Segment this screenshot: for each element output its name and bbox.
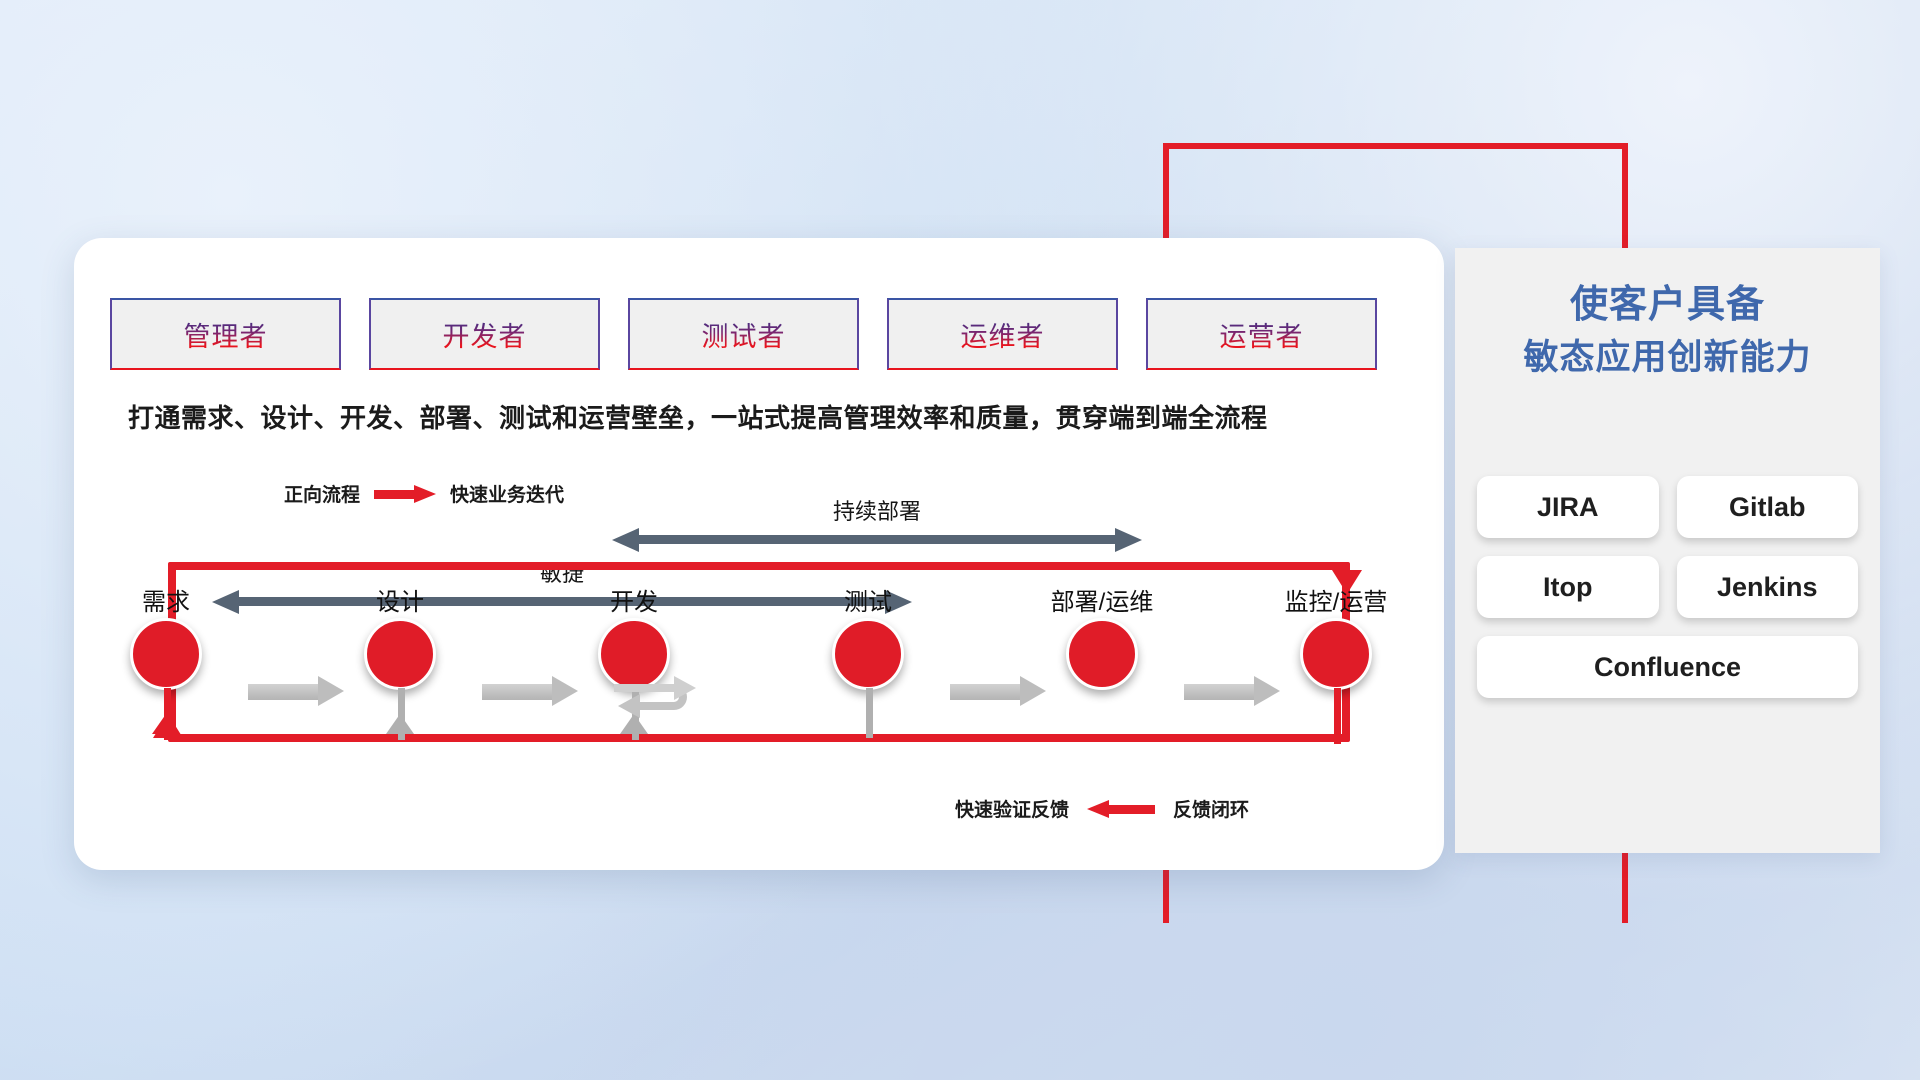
span-label: 持续部署 — [612, 494, 1142, 526]
legend-feedback-right-label: 反馈闭环 — [1173, 795, 1249, 822]
connector-arrow-4 — [1184, 676, 1280, 706]
legend-feedback-left-label: 快速验证反馈 — [955, 795, 1069, 822]
panel-title-line1: 使客户具备 — [1455, 278, 1880, 333]
pipeline-node-label: 开发 — [564, 582, 704, 617]
headline-text: 打通需求、设计、开发、部署、测试和运营壁垒，一站式提高管理效率和质量，贯穿端到端… — [128, 398, 1268, 435]
span-bar — [638, 535, 1116, 544]
legend-forward-flow: 正向流程 快速业务迭代 — [284, 480, 564, 507]
role-chip-ops[interactable]: 运维者 — [887, 298, 1118, 370]
pipeline: 需求 设计 开发 — [0, 618, 1500, 778]
arrow-left-icon — [1087, 800, 1155, 818]
role-chip-tester[interactable]: 测试者 — [628, 298, 859, 370]
role-label: 开发者 — [443, 315, 527, 354]
pipeline-node-dot — [1300, 618, 1372, 690]
legend-forward-right-label: 快速业务迭代 — [450, 480, 564, 507]
pipeline-node-dot — [832, 618, 904, 690]
panel-title: 使客户具备 敏态应用创新能力 — [1455, 278, 1880, 384]
pipeline-node-testing[interactable]: 测试 — [828, 618, 908, 690]
pipeline-node-label: 测试 — [798, 582, 938, 617]
tool-chip-label: Itop — [1543, 572, 1592, 603]
pipeline-node-dot — [1066, 618, 1138, 690]
pipeline-node-dot — [130, 618, 202, 690]
role-label: 运营者 — [1220, 315, 1304, 354]
tool-chip-label: JIRA — [1537, 492, 1599, 523]
node-stem — [866, 688, 873, 738]
role-chip-operations[interactable]: 运营者 — [1146, 298, 1377, 370]
pipeline-node-requirement[interactable]: 需求 — [126, 618, 206, 690]
span-arrow-continuous-deployment: 持续部署 — [612, 528, 1142, 551]
red-bracket-foot — [1163, 917, 1628, 923]
pipeline-node-deploy-ops[interactable]: 部署/运维 — [1062, 618, 1142, 690]
tool-chip-list: JIRA Gitlab Itop Jenkins Confluence — [1477, 476, 1858, 698]
tool-chip-label: Jenkins — [1717, 572, 1818, 603]
arrow-head-left-icon — [612, 528, 639, 552]
tool-chip-jira[interactable]: JIRA — [1477, 476, 1659, 538]
node-stem-arrow-icon — [386, 714, 414, 734]
pipeline-node-monitor-operations[interactable]: 监控/运营 — [1296, 618, 1376, 690]
role-label: 运维者 — [961, 315, 1045, 354]
node-stem — [1334, 688, 1341, 744]
tools-panel: 使客户具备 敏态应用创新能力 JIRA Gitlab Itop Jenkins … — [1455, 248, 1880, 853]
tool-chip-label: Confluence — [1594, 652, 1741, 683]
role-label: 管理者 — [184, 315, 268, 354]
connector-arrow-3 — [950, 676, 1046, 706]
tool-chip-label: Gitlab — [1729, 492, 1806, 523]
tool-chip-confluence[interactable]: Confluence — [1477, 636, 1858, 698]
slide-canvas: 管理者 开发者 测试者 运维者 运营者 打通需求、设计、开发、部署、测试和运营壁… — [0, 0, 1920, 1080]
role-chip-developer[interactable]: 开发者 — [369, 298, 600, 370]
tool-chip-itop[interactable]: Itop — [1477, 556, 1659, 618]
loop-back-arrow-icon — [612, 668, 722, 728]
connector-arrow-1 — [248, 676, 344, 706]
pipeline-node-label: 监控/运营 — [1266, 582, 1406, 617]
node-stem-arrow-icon — [152, 714, 180, 734]
roles-row: 管理者 开发者 测试者 运维者 运营者 — [110, 298, 1377, 370]
pipeline-node-label: 部署/运维 — [1032, 582, 1172, 617]
pipeline-node-label: 设计 — [330, 582, 470, 617]
pipeline-node-dot — [364, 618, 436, 690]
pipeline-node-label: 需求 — [96, 582, 236, 617]
arrow-head-right-icon — [1115, 528, 1142, 552]
connector-arrow-2 — [482, 676, 578, 706]
role-chip-manager[interactable]: 管理者 — [110, 298, 341, 370]
panel-title-line2: 敏态应用创新能力 — [1455, 333, 1880, 384]
legend-feedback-loop: 快速验证反馈 反馈闭环 — [955, 795, 1249, 822]
pipeline-node-design[interactable]: 设计 — [360, 618, 440, 690]
arrow-right-icon — [374, 485, 436, 503]
legend-forward-left-label: 正向流程 — [284, 480, 360, 507]
tool-chip-gitlab[interactable]: Gitlab — [1677, 476, 1859, 538]
role-label: 测试者 — [702, 315, 786, 354]
tool-chip-jenkins[interactable]: Jenkins — [1677, 556, 1859, 618]
